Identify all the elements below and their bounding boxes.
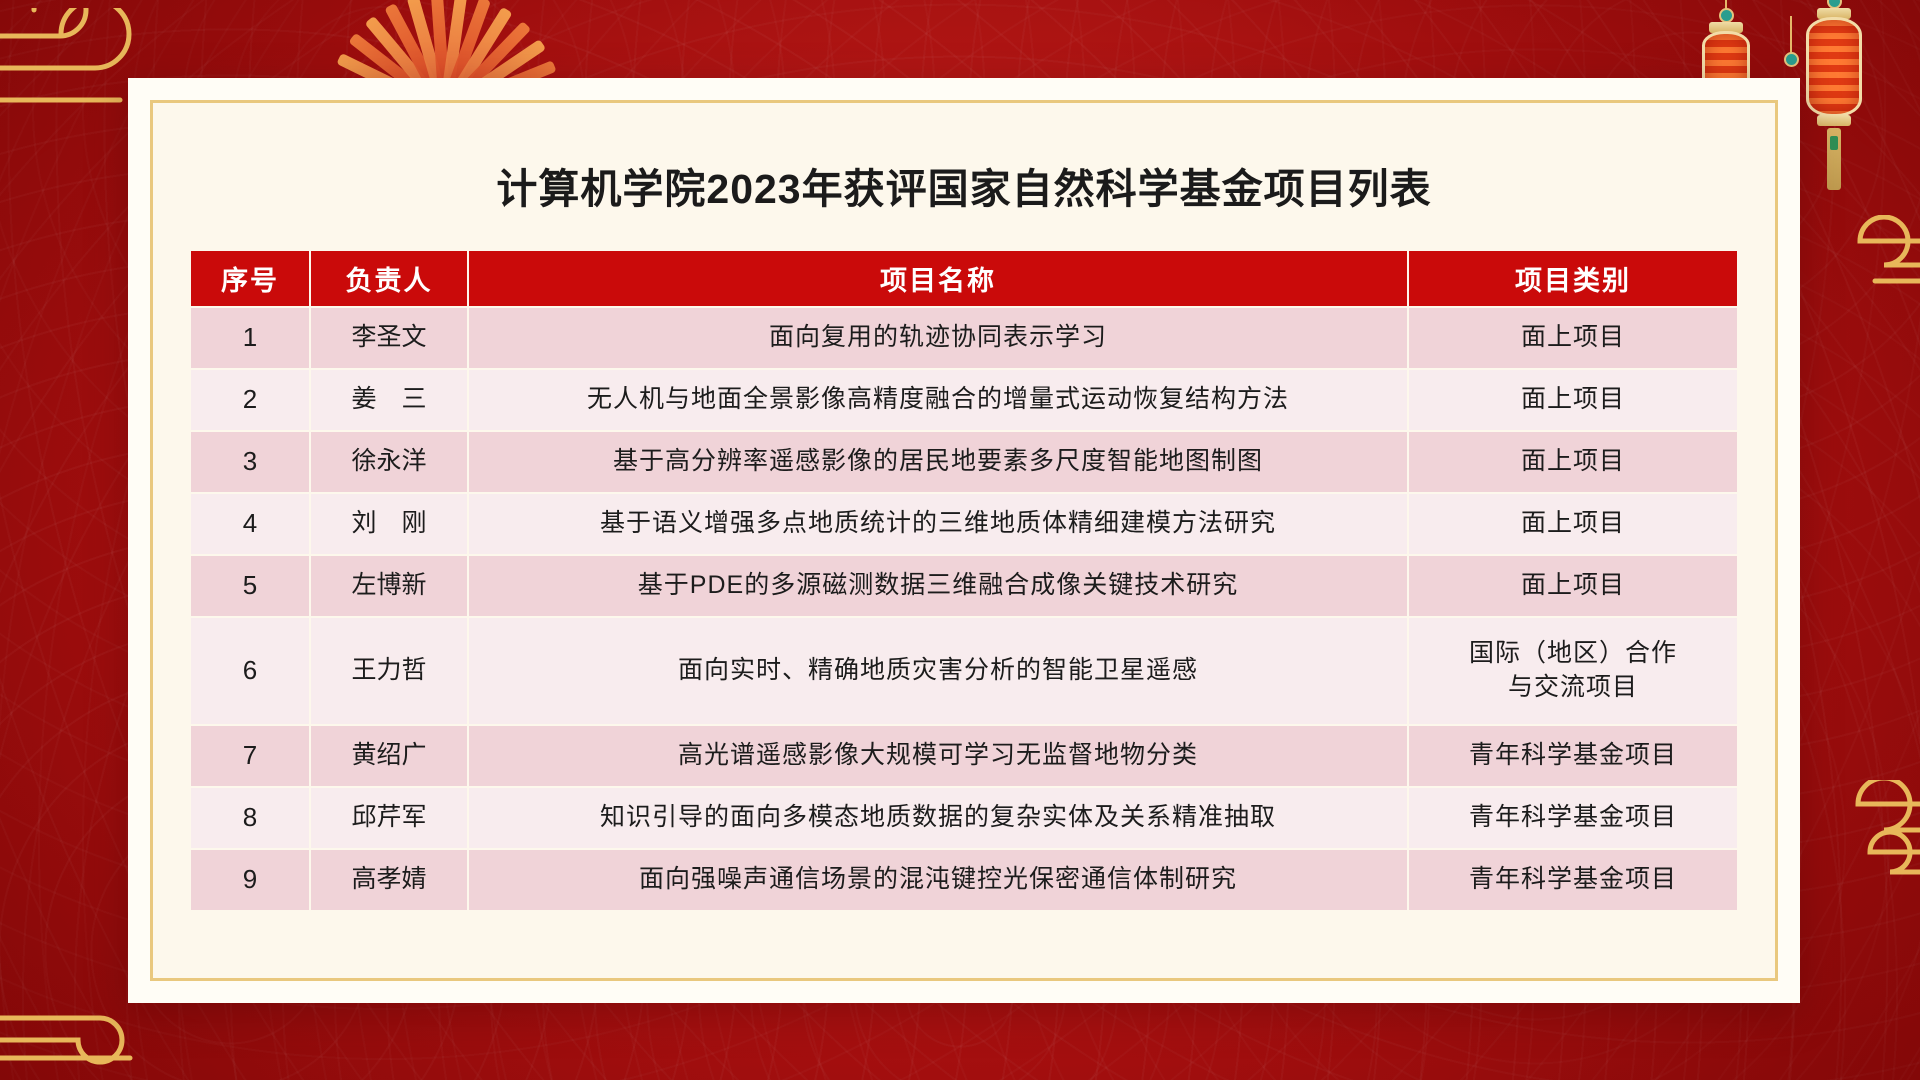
cell-leader: 黄绍广 (310, 725, 468, 787)
column-header-index[interactable]: 序号 (190, 250, 310, 307)
table-row: 1 李圣文 面向复用的轨迹协同表示学习 面上项目 (190, 307, 1738, 369)
cell-category: 面上项目 (1408, 555, 1738, 617)
page-title: 计算机学院2023年获评国家自然科学基金项目列表 (189, 155, 1739, 215)
cell-index: 7 (190, 725, 310, 787)
cell-category: 面上项目 (1408, 431, 1738, 493)
cell-leader: 王力哲 (310, 617, 468, 725)
table-row: 6 王力哲 面向实时、精确地质灾害分析的智能卫星遥感 国际（地区）合作 与交流项… (190, 617, 1738, 725)
cloud-swirl-icon (1780, 215, 1920, 335)
cell-index: 1 (190, 307, 310, 369)
table-row: 2 姜 三 无人机与地面全景影像高精度融合的增量式运动恢复结构方法 面上项目 (190, 369, 1738, 431)
cell-project: 面向实时、精确地质灾害分析的智能卫星遥感 (468, 617, 1408, 725)
cell-index: 5 (190, 555, 310, 617)
table-row: 4 刘 刚 基于语义增强多点地质统计的三维地质体精细建模方法研究 面上项目 (190, 493, 1738, 555)
cell-project: 知识引导的面向多模态地质数据的复杂实体及关系精准抽取 (468, 787, 1408, 849)
table-row: 7 黄绍广 高光谱遥感影像大规模可学习无监督地物分类 青年科学基金项目 (190, 725, 1738, 787)
cell-index: 8 (190, 787, 310, 849)
table-row: 3 徐永洋 基于高分辨率遥感影像的居民地要素多尺度智能地图制图 面上项目 (190, 431, 1738, 493)
cell-project: 面向强噪声通信场景的混沌键控光保密通信体制研究 (468, 849, 1408, 911)
table-row: 5 左博新 基于PDE的多源磁测数据三维融合成像关键技术研究 面上项目 (190, 555, 1738, 617)
cell-leader: 刘 刚 (310, 493, 468, 555)
cell-project: 基于高分辨率遥感影像的居民地要素多尺度智能地图制图 (468, 431, 1408, 493)
card-inner-frame: 计算机学院2023年获评国家自然科学基金项目列表 序号 负责人 项目名称 项目类… (150, 100, 1778, 981)
table-row: 8 邱芹军 知识引导的面向多模态地质数据的复杂实体及关系精准抽取 青年科学基金项… (190, 787, 1738, 849)
cell-category: 青年科学基金项目 (1408, 787, 1738, 849)
cell-index: 9 (190, 849, 310, 911)
column-header-leader[interactable]: 负责人 (310, 250, 468, 307)
lantern-icon (1806, 8, 1862, 126)
cell-category: 面上项目 (1408, 493, 1738, 555)
cloud-swirl-icon (0, 1000, 210, 1080)
cell-project: 无人机与地面全景影像高精度融合的增量式运动恢复结构方法 (468, 369, 1408, 431)
cell-category: 青年科学基金项目 (1408, 725, 1738, 787)
cell-project: 高光谱遥感影像大规模可学习无监督地物分类 (468, 725, 1408, 787)
cell-category: 青年科学基金项目 (1408, 849, 1738, 911)
cell-index: 2 (190, 369, 310, 431)
cell-project: 基于语义增强多点地质统计的三维地质体精细建模方法研究 (468, 493, 1408, 555)
content-card: 计算机学院2023年获评国家自然科学基金项目列表 序号 负责人 项目名称 项目类… (128, 78, 1800, 1003)
column-header-project[interactable]: 项目名称 (468, 250, 1408, 307)
cell-index: 6 (190, 617, 310, 725)
cell-leader: 姜 三 (310, 369, 468, 431)
cell-category: 国际（地区）合作 与交流项目 (1408, 617, 1738, 725)
table-row: 9 高孝婧 面向强噪声通信场景的混沌键控光保密通信体制研究 青年科学基金项目 (190, 849, 1738, 911)
table-body: 1 李圣文 面向复用的轨迹协同表示学习 面上项目 2 姜 三 无人机与地面全景影… (190, 307, 1738, 911)
table-header-row: 序号 负责人 项目名称 项目类别 (190, 250, 1738, 307)
cell-project: 面向复用的轨迹协同表示学习 (468, 307, 1408, 369)
column-header-category[interactable]: 项目类别 (1408, 250, 1738, 307)
cell-category: 面上项目 (1408, 307, 1738, 369)
cell-leader: 李圣文 (310, 307, 468, 369)
cell-leader: 左博新 (310, 555, 468, 617)
cell-leader: 邱芹军 (310, 787, 468, 849)
cell-index: 3 (190, 431, 310, 493)
cell-leader: 徐永洋 (310, 431, 468, 493)
cell-index: 4 (190, 493, 310, 555)
cell-category: 面上项目 (1408, 369, 1738, 431)
cell-project: 基于PDE的多源磁测数据三维融合成像关键技术研究 (468, 555, 1408, 617)
cell-leader: 高孝婧 (310, 849, 468, 911)
projects-table: 序号 负责人 项目名称 项目类别 1 李圣文 面向复用的轨迹协同表示学习 面上项… (189, 249, 1739, 912)
